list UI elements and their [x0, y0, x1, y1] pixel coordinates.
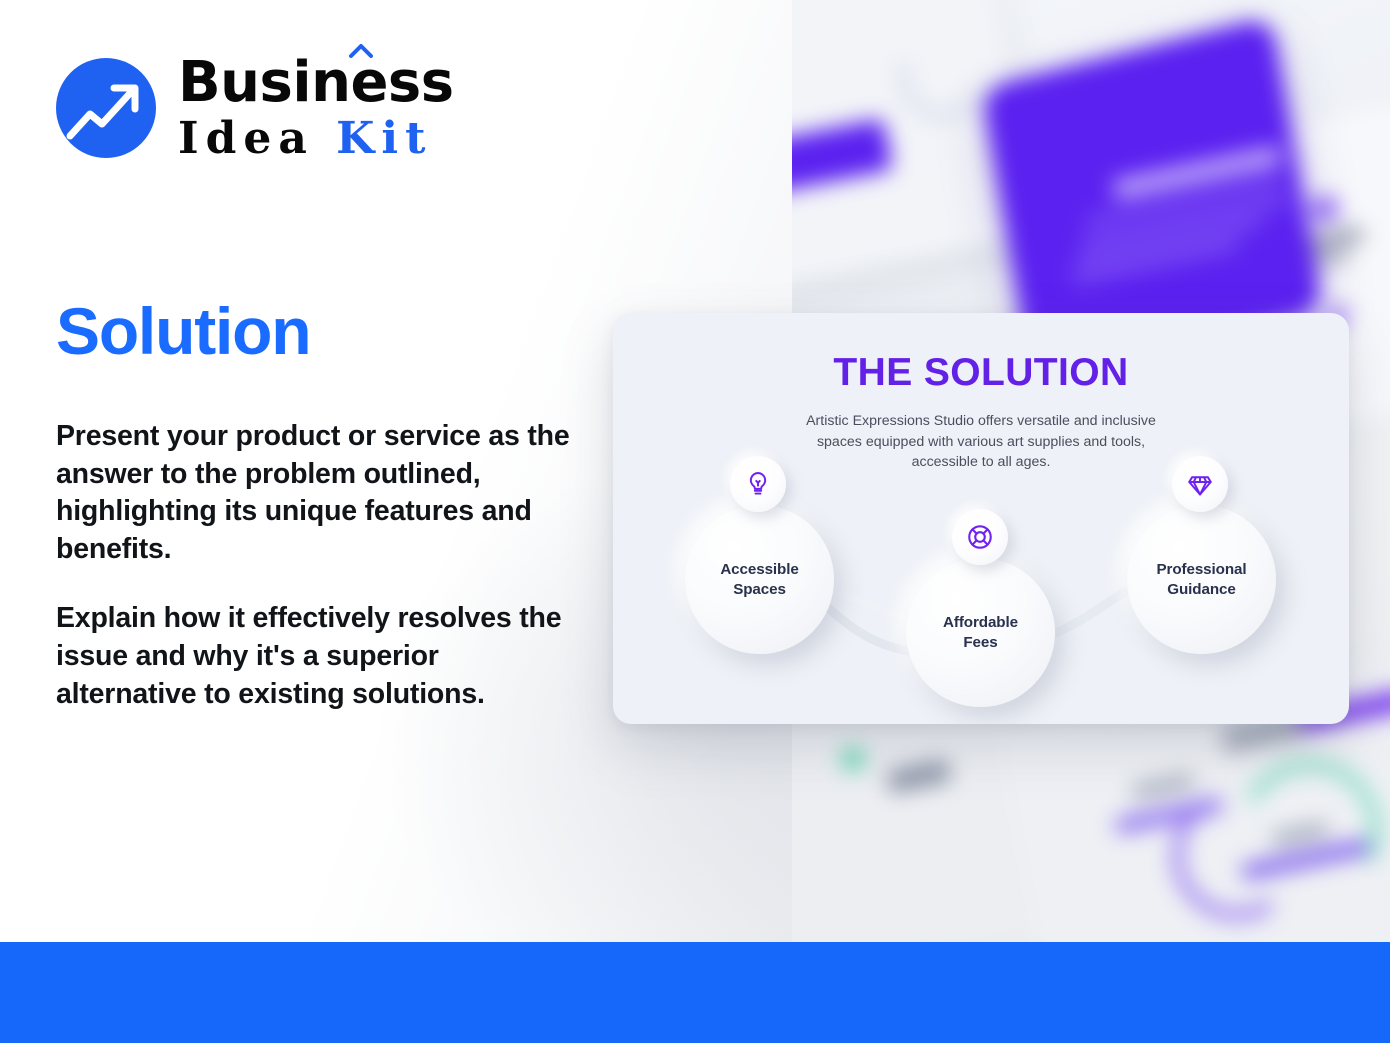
node-label: AccessibleSpaces: [720, 560, 798, 599]
card-title: THE SOLUTION: [613, 351, 1349, 395]
growth-arrow-circle-icon: [56, 58, 156, 158]
solution-node-accessible-spaces[interactable]: AccessibleSpaces: [685, 505, 834, 654]
backdrop-dot-a: [1312, 196, 1338, 222]
brand-name-line2: Idea Kit: [178, 117, 454, 161]
brand-wordmark: Business Idea Kit: [178, 55, 454, 161]
solution-node-affordable-fees[interactable]: AffordableFees: [906, 558, 1055, 707]
page-title: Solution: [56, 298, 310, 364]
node-label: ProfessionalGuidance: [1157, 560, 1247, 599]
solution-node-professional-guidance[interactable]: ProfessionalGuidance: [1127, 505, 1276, 654]
solution-node-group: AccessibleSpaces AffordableFees: [613, 463, 1349, 724]
body-paragraph-1: Present your product or service as the a…: [56, 418, 586, 568]
body-paragraph-2: Explain how it effectively resolves the …: [56, 600, 586, 713]
diamond-icon: [1172, 456, 1228, 512]
node-label: AffordableFees: [943, 613, 1018, 652]
brand-logo: Business Idea Kit: [56, 55, 454, 161]
lightbulb-icon: [730, 456, 786, 512]
slide-root: Business Idea Kit Solution Present your …: [0, 0, 1390, 1043]
card-header: THE SOLUTION Artistic Expressions Studio…: [613, 313, 1349, 473]
lifebuoy-icon: [952, 509, 1008, 565]
footer-bar: [0, 942, 1390, 1043]
caret-accent-icon: [348, 43, 374, 59]
brand-name-accent: Kit: [336, 113, 432, 164]
body-copy: Present your product or service as the a…: [56, 418, 586, 713]
solution-preview-card: THE SOLUTION Artistic Expressions Studio…: [613, 313, 1349, 724]
backdrop-dot-green: [842, 748, 864, 770]
brand-name-line1: Business: [178, 55, 454, 111]
